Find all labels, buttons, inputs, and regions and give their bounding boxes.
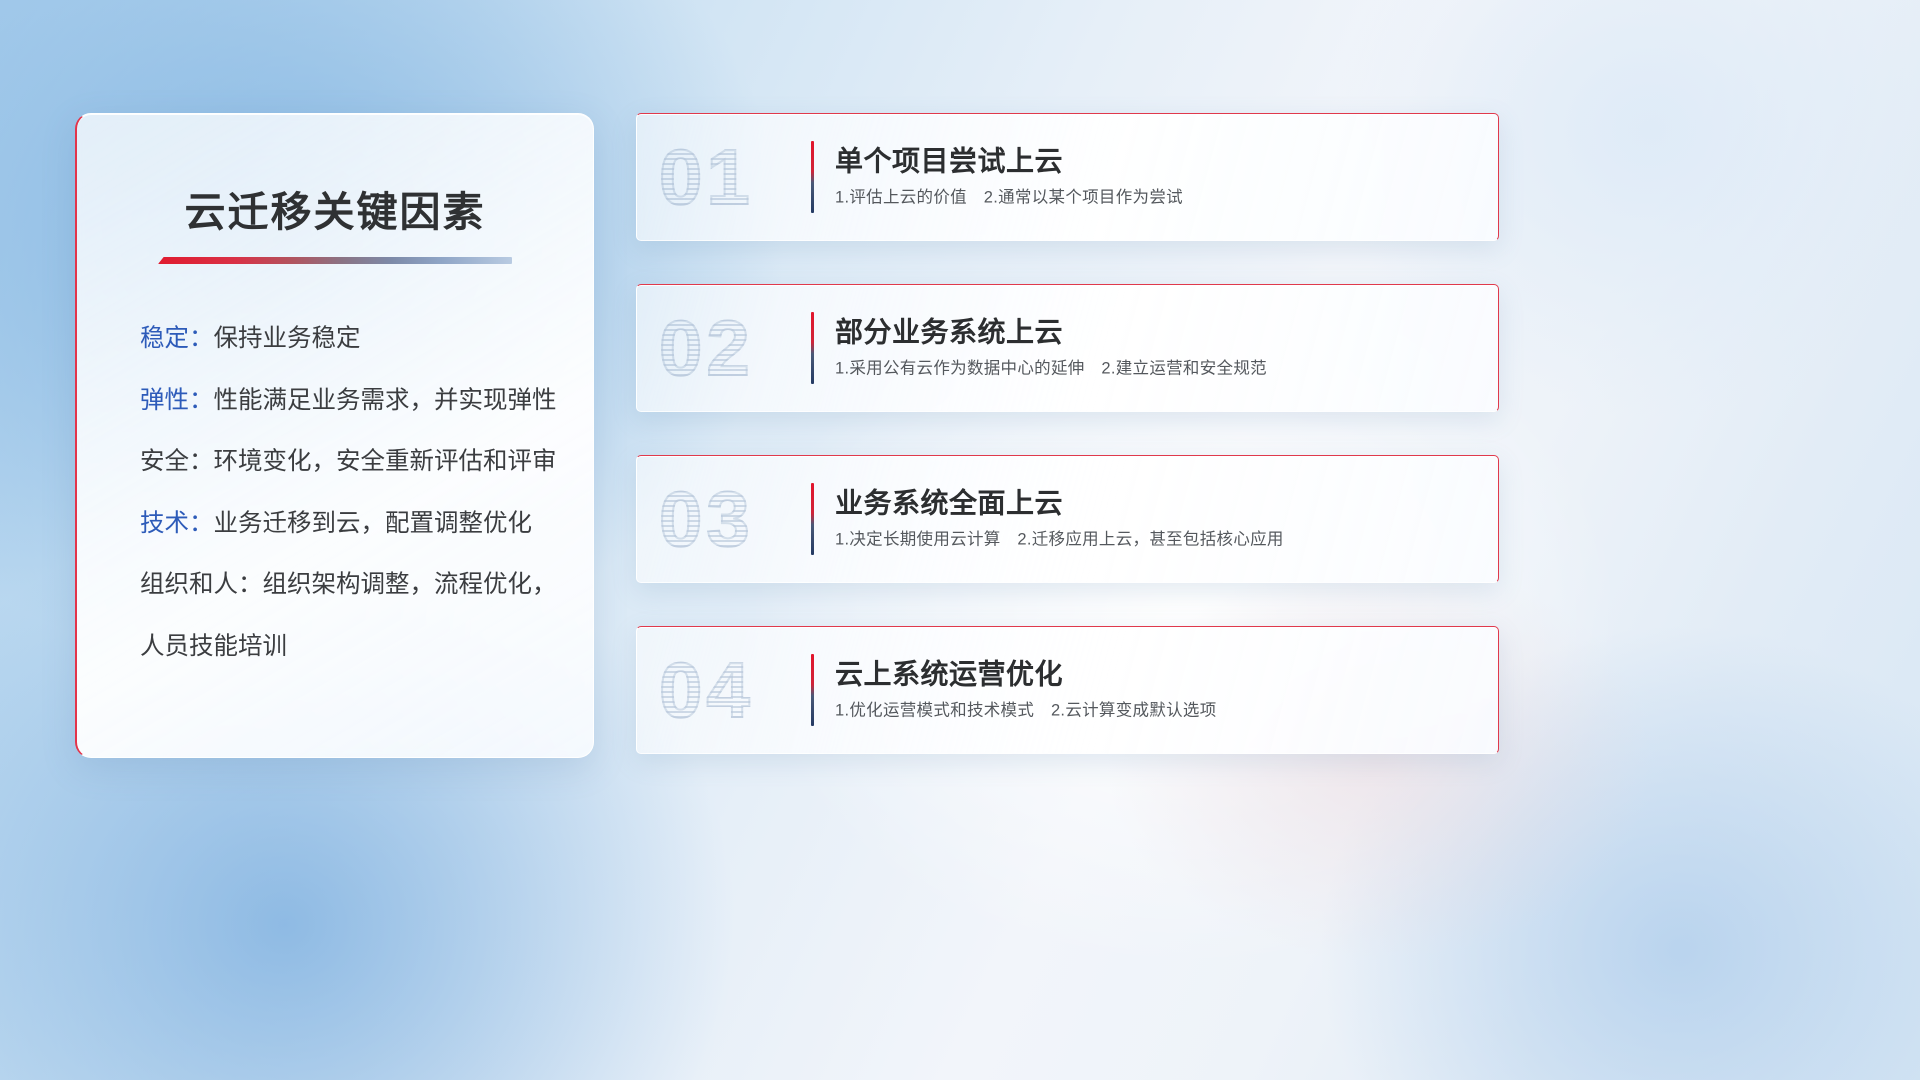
step-text-block: 部分业务系统上云 1.采用公有云作为数据中心的延伸 2.建立运营和安全规范	[835, 317, 1267, 380]
factor-list: 稳定：保持业务稳定 弹性：性能满足业务需求，并实现弹性 安全：环境变化，安全重新…	[111, 327, 559, 659]
step-title: 单个项目尝试上云	[835, 146, 1183, 178]
step-number: 03	[659, 480, 754, 558]
factor-key: 稳定：	[140, 325, 214, 352]
factor-key: 弹性：	[140, 387, 214, 414]
step-accent-bar	[811, 141, 814, 213]
list-item: 稳定：保持业务稳定	[140, 327, 559, 352]
factor-value: 业务迁移到云，配置调整优化	[214, 510, 533, 537]
step-text-block: 业务系统全面上云 1.决定长期使用云计算 2.迁移应用上云，甚至包括核心应用	[835, 488, 1284, 551]
step-card-01[interactable]: 01 单个项目尝试上云 1.评估上云的价值 2.通常以某个项目作为尝试	[636, 113, 1499, 241]
step-title: 云上系统运营优化	[835, 659, 1217, 691]
step-subtitle: 1.决定长期使用云计算 2.迁移应用上云，甚至包括核心应用	[835, 531, 1284, 551]
list-item: 技术：业务迁移到云，配置调整优化	[140, 512, 559, 537]
key-factors-panel-body: 云迁移关键因素 稳定：保持业务稳定 弹性：性能满足业务需求，并实现弹性 安全：环…	[77, 114, 593, 757]
step-card-04[interactable]: 04 云上系统运营优化 1.优化运营模式和技术模式 2.云计算变成默认选项	[636, 626, 1499, 754]
factor-value: 环境变化，安全重新评估和评审	[214, 448, 557, 475]
step-number: 01	[659, 138, 754, 216]
factor-value: 人员技能培训	[140, 633, 287, 660]
factor-key: 组织和人：	[140, 571, 263, 598]
step-card-02[interactable]: 02 部分业务系统上云 1.采用公有云作为数据中心的延伸 2.建立运营和安全规范	[636, 284, 1499, 412]
step-text-block: 单个项目尝试上云 1.评估上云的价值 2.通常以某个项目作为尝试	[835, 146, 1183, 209]
title-underline-rule	[158, 257, 512, 264]
step-number: 04	[659, 651, 754, 729]
step-accent-bar	[811, 654, 814, 726]
list-item: 组织和人：组织架构调整，流程优化，	[140, 573, 559, 598]
factor-value: 性能满足业务需求，并实现弹性	[214, 387, 557, 414]
step-title: 业务系统全面上云	[835, 488, 1284, 520]
factor-key: 安全：	[140, 448, 214, 475]
factor-key: 技术：	[140, 510, 214, 537]
step-number: 02	[659, 309, 754, 387]
step-accent-bar	[811, 483, 814, 555]
factor-value: 保持业务稳定	[214, 325, 361, 352]
factor-value: 组织架构调整，流程优化，	[263, 571, 557, 598]
step-title: 部分业务系统上云	[835, 317, 1267, 349]
step-subtitle: 1.优化运营模式和技术模式 2.云计算变成默认选项	[835, 702, 1217, 722]
list-item: 安全：环境变化，安全重新评估和评审	[140, 450, 559, 475]
page-title: 云迁移关键因素	[111, 178, 559, 238]
list-item: 弹性：性能满足业务需求，并实现弹性	[140, 389, 559, 414]
step-text-block: 云上系统运营优化 1.优化运营模式和技术模式 2.云计算变成默认选项	[835, 659, 1217, 722]
step-subtitle: 1.采用公有云作为数据中心的延伸 2.建立运营和安全规范	[835, 360, 1267, 380]
key-factors-panel: 云迁移关键因素 稳定：保持业务稳定 弹性：性能满足业务需求，并实现弹性 安全：环…	[75, 113, 594, 758]
step-card-03[interactable]: 03 业务系统全面上云 1.决定长期使用云计算 2.迁移应用上云，甚至包括核心应…	[636, 455, 1499, 583]
step-subtitle: 1.评估上云的价值 2.通常以某个项目作为尝试	[835, 189, 1183, 209]
slide-stage: 云迁移关键因素 稳定：保持业务稳定 弹性：性能满足业务需求，并实现弹性 安全：环…	[0, 0, 1920, 1080]
step-accent-bar	[811, 312, 814, 384]
list-item: 人员技能培训	[140, 635, 559, 660]
